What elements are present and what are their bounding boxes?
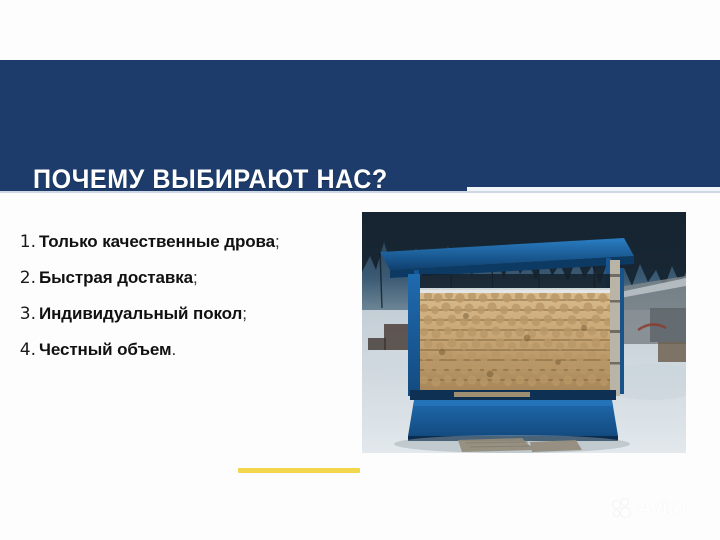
list-item-number: 3. <box>14 304 39 324</box>
list-item-label: Быстрая доставка <box>39 268 193 288</box>
avito-watermark: Avito <box>613 498 686 519</box>
accent-rule <box>238 468 360 473</box>
list-item: 2. Быстрая доставка ; <box>14 268 354 288</box>
page-title: ПОЧЕМУ ВЫБИРАЮТ НАС? <box>33 166 388 193</box>
list-item-number: 2. <box>14 268 39 288</box>
avito-wordmark: Avito <box>637 498 686 519</box>
list-item: 1. Только качественные дрова ; <box>14 232 354 252</box>
header-band: ПОЧЕМУ ВЫБИРАЮТ НАС? <box>0 60 720 191</box>
feature-list: 1. Только качественные дрова ; 2. Быстра… <box>14 232 354 376</box>
list-item-punctuation: ; <box>193 268 198 288</box>
firewood-trailer-photo <box>362 212 686 453</box>
list-item-number: 4. <box>14 340 39 360</box>
list-item-label: Честный объем <box>39 340 171 360</box>
list-item-label: Только качественные дрова <box>39 232 275 252</box>
list-item-punctuation: ; <box>242 304 247 324</box>
list-item-punctuation: . <box>171 340 176 360</box>
avito-logo-icon <box>613 499 635 519</box>
list-item: 3. Индивидуальный покол ; <box>14 304 354 324</box>
photo-artwork <box>362 212 686 453</box>
list-item-label: Индивидуальный покол <box>39 304 242 324</box>
list-item-number: 1. <box>14 232 39 252</box>
list-item: 4. Честный объем . <box>14 340 354 360</box>
header-divider-rule <box>467 187 720 191</box>
list-item-punctuation: ; <box>275 232 280 252</box>
slide-canvas: ПОЧЕМУ ВЫБИРАЮТ НАС? 1. Только качествен… <box>0 0 720 540</box>
